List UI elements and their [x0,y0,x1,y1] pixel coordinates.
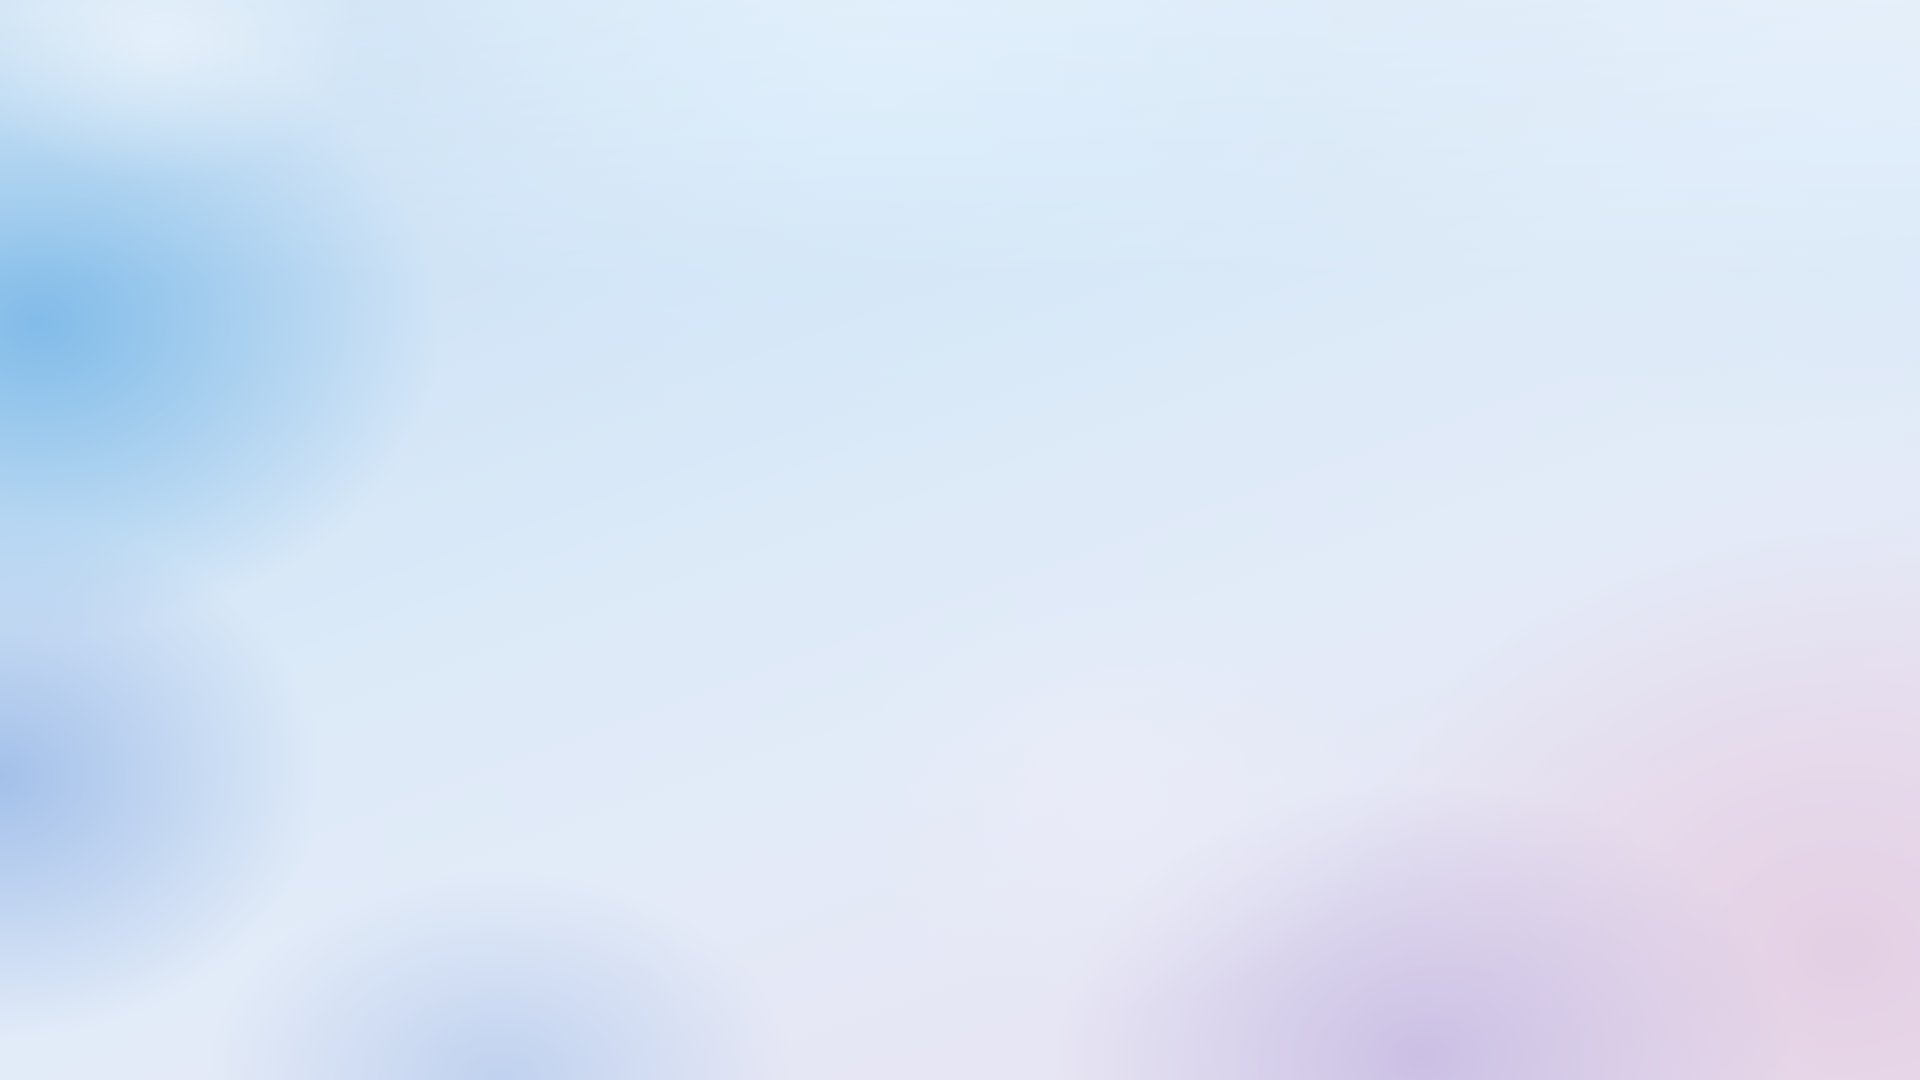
bg-corner-highlight [0,0,1920,1080]
assessment-flow-band [88,368,1848,468]
top-descriptions [0,225,1920,335]
background-gradient [0,0,1920,1080]
